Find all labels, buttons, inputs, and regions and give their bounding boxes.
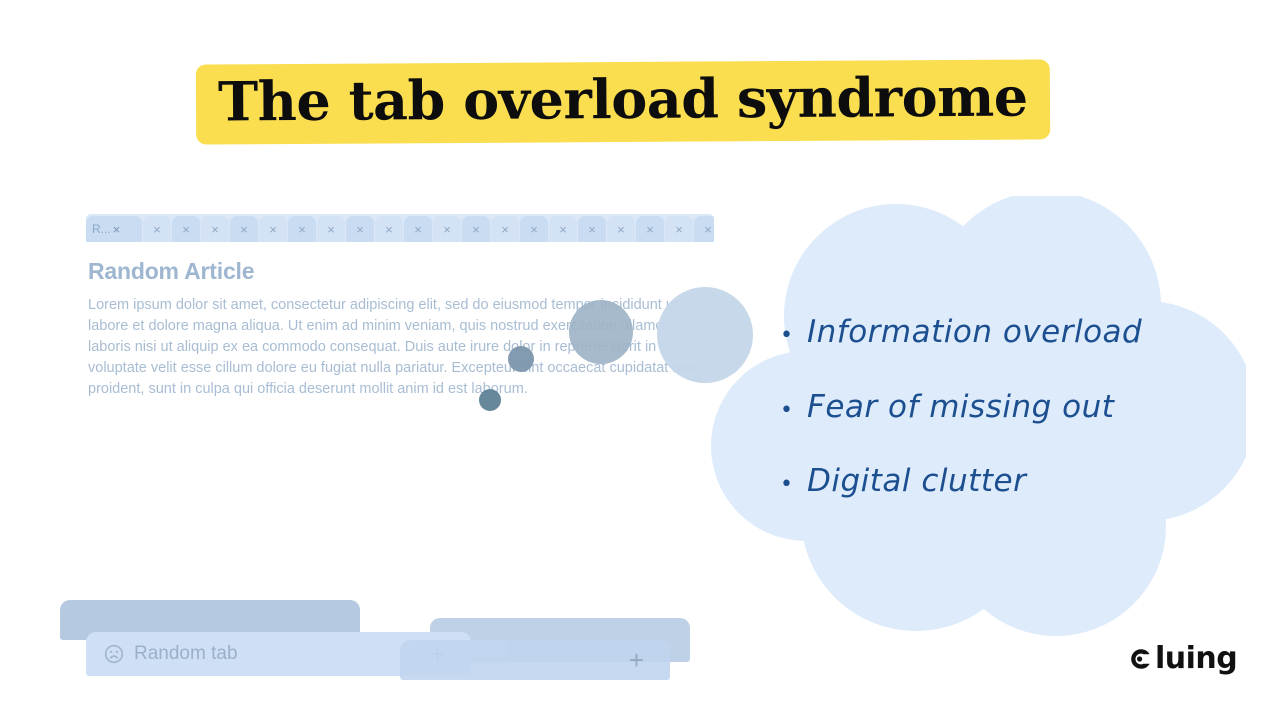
brand-logo: luing bbox=[1128, 641, 1237, 676]
close-icon[interactable]: × bbox=[588, 223, 596, 236]
title-text: The tab overload syndrome bbox=[218, 70, 1028, 129]
stacked-tab-bar-4[interactable]: + bbox=[400, 640, 670, 680]
browser-tab[interactable]: × bbox=[288, 216, 316, 242]
close-icon[interactable]: × bbox=[559, 223, 567, 236]
close-icon[interactable]: × bbox=[269, 223, 277, 236]
tab-title: Random tab bbox=[134, 643, 238, 665]
close-icon[interactable]: × bbox=[472, 223, 480, 236]
browser-tab[interactable]: × bbox=[317, 216, 345, 242]
list-item: • Fear of missing out bbox=[780, 391, 1200, 424]
close-icon[interactable]: × bbox=[298, 223, 306, 236]
close-icon[interactable]: × bbox=[385, 223, 393, 236]
page-title: The tab overload syndrome bbox=[196, 62, 1050, 142]
bullet-marker-icon: • bbox=[780, 474, 793, 496]
browser-tab-label: R... bbox=[92, 223, 111, 235]
sad-face-icon bbox=[104, 644, 124, 664]
browser-tab[interactable]: × bbox=[143, 216, 171, 242]
browser-tab[interactable]: × bbox=[607, 216, 635, 242]
list-item: • Digital clutter bbox=[780, 465, 1200, 498]
close-icon[interactable]: × bbox=[501, 223, 509, 236]
browser-tab-strip[interactable]: R... × × × × × × × × × × × × × × × × × ×… bbox=[86, 214, 714, 242]
browser-tab[interactable]: × bbox=[433, 216, 461, 242]
logo-text: luing bbox=[1155, 641, 1237, 676]
close-icon[interactable]: × bbox=[646, 223, 654, 236]
title-highlight-banner: The tab overload syndrome bbox=[196, 59, 1050, 144]
browser-tab[interactable]: × bbox=[375, 216, 403, 242]
browser-tab[interactable]: × bbox=[201, 216, 229, 242]
close-icon[interactable]: × bbox=[182, 223, 190, 236]
browser-tab-active[interactable]: R... × bbox=[86, 216, 142, 242]
bullet-text: Fear of missing out bbox=[807, 391, 1114, 424]
browser-tab[interactable]: × bbox=[549, 216, 577, 242]
browser-tab[interactable]: × bbox=[230, 216, 258, 242]
article-heading: Random Article bbox=[88, 258, 714, 285]
browser-tab[interactable]: × bbox=[491, 216, 519, 242]
close-icon[interactable]: × bbox=[530, 223, 538, 236]
close-icon[interactable]: × bbox=[617, 223, 625, 236]
thought-bubble-bullet-list: • Information overload • Fear of missing… bbox=[780, 316, 1200, 540]
browser-tab[interactable]: × bbox=[404, 216, 432, 242]
new-tab-button[interactable]: + bbox=[629, 647, 644, 673]
close-icon[interactable]: × bbox=[356, 223, 364, 236]
browser-tab[interactable]: × bbox=[520, 216, 548, 242]
bullet-marker-icon: • bbox=[780, 325, 793, 347]
article-paragraph: Lorem ipsum dolor sit amet, consectetur … bbox=[88, 295, 700, 400]
cluing-eye-icon bbox=[1128, 646, 1154, 672]
bullet-marker-icon: • bbox=[780, 400, 793, 422]
bullet-text: Information overload bbox=[807, 316, 1142, 349]
close-icon[interactable]: × bbox=[211, 223, 219, 236]
list-item: • Information overload bbox=[780, 316, 1200, 349]
browser-tab[interactable]: × bbox=[636, 216, 664, 242]
browser-tab[interactable]: × bbox=[346, 216, 374, 242]
close-icon[interactable]: × bbox=[443, 223, 451, 236]
close-icon[interactable]: × bbox=[414, 223, 422, 236]
browser-tab[interactable]: × bbox=[259, 216, 287, 242]
close-icon[interactable]: × bbox=[327, 223, 335, 236]
browser-tab[interactable]: × bbox=[172, 216, 200, 242]
slide-canvas: The tab overload syndrome R... × × × × ×… bbox=[0, 0, 1280, 720]
browser-tab[interactable]: × bbox=[578, 216, 606, 242]
close-icon[interactable]: × bbox=[153, 223, 161, 236]
close-icon[interactable]: × bbox=[240, 223, 248, 236]
bullet-text: Digital clutter bbox=[807, 465, 1026, 498]
browser-tab[interactable]: × bbox=[462, 216, 490, 242]
tab-label-group: Random tab bbox=[86, 643, 238, 665]
close-icon[interactable]: × bbox=[675, 223, 683, 236]
close-icon[interactable]: × bbox=[113, 223, 121, 236]
